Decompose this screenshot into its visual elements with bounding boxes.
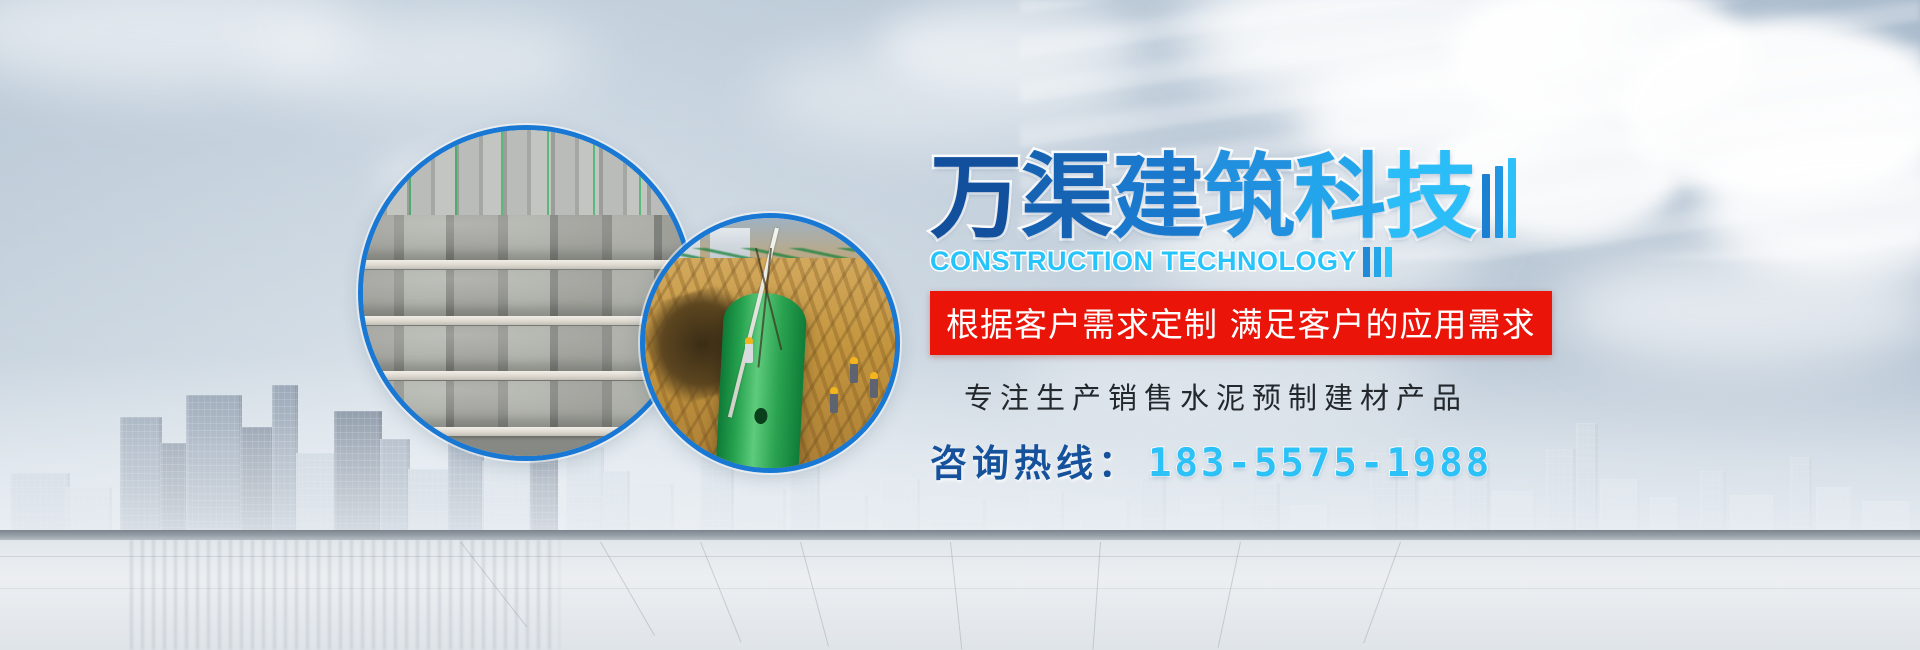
concrete-block-row <box>363 270 689 316</box>
building-silhouette <box>734 489 786 535</box>
floor-perspective-line <box>1092 542 1101 650</box>
building-silhouette <box>1250 483 1280 535</box>
business-tagline: 专注生产销售水泥预制建材产品 <box>964 375 1630 417</box>
english-subtitle-row: CONSTRUCTION TECHNOLOGY <box>930 246 1630 277</box>
concrete-slab <box>363 427 689 436</box>
building-silhouette <box>120 417 162 535</box>
hotline-label: 咨询热线： <box>930 433 1140 487</box>
building-silhouette <box>1700 471 1726 535</box>
red-promo-text: 根据客户需求定制 满足客户的应用需求 <box>946 305 1536 344</box>
concrete-slab <box>363 260 689 269</box>
title-char: 渠 <box>1021 152 1112 244</box>
building-silhouette <box>566 447 604 535</box>
building-silhouette <box>408 469 452 535</box>
concrete-block-row <box>363 326 689 372</box>
subtitle-accent-bars-icon <box>1363 247 1392 277</box>
concrete-block-row <box>363 215 689 261</box>
building-silhouette <box>1816 487 1854 535</box>
building-silhouette <box>1790 457 1812 535</box>
floor-seam <box>0 556 1920 557</box>
construction-worker <box>830 393 838 413</box>
building-silhouette <box>700 457 734 535</box>
building-silhouette <box>880 479 920 535</box>
english-subtitle: CONSTRUCTION TECHNOLOGY <box>930 246 1357 277</box>
concrete-slab <box>363 316 689 325</box>
hotline-row: 咨询热线： 183-5575-1988 <box>930 433 1630 487</box>
septic-tank-install-image <box>645 218 895 468</box>
banner-text-block: 万 渠 建 筑 科 技 CONSTRUCTION TECHNOLOGY 根据客户… <box>930 140 1630 487</box>
hotline-number[interactable]: 183-5575-1988 <box>1148 441 1492 486</box>
title-char: 建 <box>1112 152 1203 244</box>
construction-worker <box>870 378 878 398</box>
concrete-slab <box>363 371 689 380</box>
building-silhouette <box>630 483 674 535</box>
floor-perspective-line <box>800 542 829 647</box>
green-septic-tank <box>715 291 807 468</box>
building-silhouette <box>790 465 820 535</box>
product-photo-circle-primary[interactable] <box>363 130 689 456</box>
building-silhouette <box>186 395 242 535</box>
promotional-banner: 万 渠 建 筑 科 技 CONSTRUCTION TECHNOLOGY 根据客户… <box>0 0 1920 650</box>
title-char: 筑 <box>1203 152 1294 244</box>
title-char: 科 <box>1294 152 1385 244</box>
cloud-shape <box>250 10 590 105</box>
concrete-blocks-top-row <box>363 130 689 215</box>
concrete-block-row <box>363 381 689 427</box>
building-silhouette <box>1730 495 1776 535</box>
building-silhouette <box>820 495 868 535</box>
title-char: 技 <box>1385 152 1476 244</box>
building-silhouette <box>296 453 336 535</box>
construction-worker <box>745 343 753 363</box>
product-photo-circle-secondary[interactable] <box>645 218 895 468</box>
horizon-edge <box>0 530 1920 540</box>
title-char: 万 <box>930 152 1021 244</box>
precast-concrete-stack-image <box>363 130 689 456</box>
building-silhouette <box>66 487 112 535</box>
building-silhouette <box>1600 479 1640 535</box>
building-silhouette <box>10 473 70 535</box>
building-silhouette <box>1030 491 1064 535</box>
title-accent-bars-icon <box>1482 158 1516 244</box>
building-silhouette <box>1492 491 1536 535</box>
building-silhouette <box>240 427 274 535</box>
construction-worker <box>850 363 858 383</box>
floor-perspective-line <box>1363 542 1401 644</box>
floor-seam <box>0 588 1920 589</box>
floor-perspective-line <box>950 542 962 650</box>
red-promo-banner: 根据客户需求定制 满足客户的应用需求 <box>930 291 1552 355</box>
plaza-floor <box>0 530 1920 650</box>
building-silhouette <box>272 385 298 535</box>
building-silhouette <box>482 461 532 535</box>
floor-perspective-line <box>1218 542 1241 648</box>
company-title: 万 渠 建 筑 科 技 <box>930 140 1630 244</box>
building-silhouette <box>602 471 630 535</box>
cloud-shape <box>880 0 1140 90</box>
